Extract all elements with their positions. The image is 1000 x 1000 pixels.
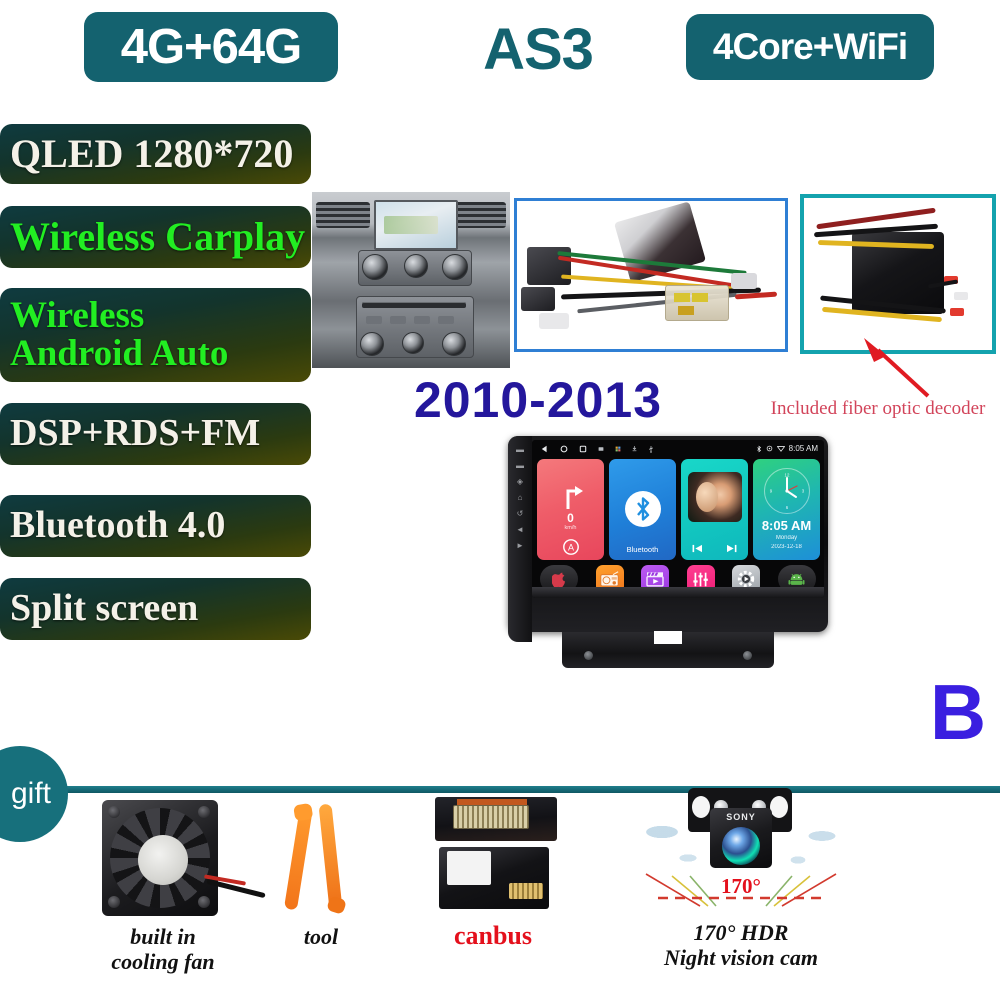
tile-bluetooth[interactable]: Bluetooth	[609, 459, 676, 560]
clock-digital-time: 8:05 AM	[753, 518, 820, 533]
backup-camera-image: SONY 170°	[626, 786, 856, 916]
tile-navigation[interactable]: 0 km/h A	[537, 459, 604, 560]
gift-caption-line1: built in	[58, 924, 268, 949]
bracket-hole-right	[743, 651, 752, 660]
home-button-icon[interactable]: ⌂	[515, 494, 525, 501]
badge-model: AS3	[448, 16, 628, 82]
fan-screw-br	[198, 896, 210, 908]
location-icon	[766, 445, 773, 452]
svg-text:12: 12	[784, 473, 789, 478]
audio-knob-right	[442, 332, 466, 356]
bracket-hole-left	[584, 651, 593, 660]
bracket-ear-left	[692, 796, 710, 818]
clock-hands-icon: 12 3 6 9	[765, 469, 809, 513]
audio-button-4	[438, 316, 454, 324]
feature-label: DSP+RDS+FM	[10, 414, 311, 454]
android-nav-buttons[interactable]	[541, 445, 654, 453]
fan-screw-bl	[108, 896, 120, 908]
audio-button-2	[390, 316, 406, 324]
side-button-vol-down[interactable]: ▬	[515, 462, 525, 469]
harness-plug	[521, 287, 555, 311]
gift-caption: tool	[246, 924, 396, 949]
model-year-range: 2010-2013	[378, 372, 698, 428]
cooling-fan-image	[98, 800, 228, 920]
camera-brand-label: SONY	[710, 812, 772, 822]
download-icon[interactable]	[632, 445, 637, 452]
audio-button-1	[366, 316, 382, 324]
canbus-box-bottom	[439, 847, 549, 909]
camera-body: SONY	[710, 808, 772, 868]
previous-track-icon[interactable]	[692, 544, 703, 553]
climate-knob-left	[362, 254, 388, 280]
feature-label: Split screen	[10, 589, 311, 629]
air-vent-right	[452, 202, 506, 228]
climate-knob-right	[442, 254, 468, 280]
feature-wireless-android-auto: Wireless Android Auto	[0, 288, 311, 382]
feature-dsp-rds-fm: DSP+RDS+FM	[0, 403, 311, 465]
cd-slot	[362, 302, 466, 308]
feature-bluetooth: Bluetooth 4.0	[0, 495, 311, 557]
side-button-next[interactable]: ►	[515, 542, 525, 549]
gift-caption-line1: 170° HDR	[596, 920, 886, 945]
rca-plug-white	[954, 292, 968, 300]
speed-value: 0	[537, 511, 604, 525]
canbus-gold-pins	[509, 883, 543, 899]
pry-tool-2	[318, 804, 342, 911]
speed-unit: km/h	[537, 525, 604, 531]
fan-screw-tl	[108, 806, 120, 818]
clock-date: 2023-12-18	[753, 544, 820, 550]
fan-screw-tr	[198, 806, 210, 818]
fiber-optic-decoder-photo	[800, 194, 996, 354]
side-button-prev[interactable]: ◄	[515, 526, 525, 533]
gift-item-cooling-fan: built in cooling fan	[58, 800, 268, 974]
status-tray: 8:05 AM	[756, 444, 818, 453]
gift-caption-line2: Night vision cam	[596, 945, 886, 970]
head-unit-screen[interactable]: 8:05 AM 0 km/h A	[532, 440, 824, 598]
back-icon[interactable]	[541, 445, 549, 453]
status-bar-time: 8:05 AM	[789, 444, 818, 453]
home-screen-tiles: 0 km/h A Bluetooth	[537, 459, 820, 560]
gift-caption: built in cooling fan	[58, 924, 268, 974]
gear-icon	[737, 570, 755, 588]
variant-letter: B	[928, 672, 988, 752]
bracket-notch	[654, 631, 682, 644]
gift-caption: canbus	[398, 921, 588, 951]
harness-white-plug	[731, 273, 757, 289]
feature-wireless-carplay: Wireless Carplay	[0, 206, 311, 268]
climate-knob-center	[404, 254, 428, 278]
audio-knob-left	[360, 332, 384, 356]
back-button-icon[interactable]: ↺	[515, 510, 525, 517]
svg-text:A: A	[567, 543, 573, 553]
tile-music[interactable]	[681, 459, 748, 560]
canbus-box-top	[435, 797, 557, 841]
original-dashboard-photo	[312, 192, 510, 368]
clock-weekday: Monday	[753, 535, 820, 541]
rca-plug-red2	[950, 308, 964, 316]
recents-icon[interactable]	[579, 445, 587, 453]
wifi-icon	[777, 445, 785, 452]
harness-white-connector	[539, 313, 569, 329]
product-ad-canvas: 4G+64G AS3 4Core+WiFi QLED 1280*720 Wire…	[0, 0, 1000, 1000]
svg-text:3: 3	[801, 489, 804, 494]
feature-label-line1: Wireless	[10, 297, 311, 335]
fan-hub-label	[138, 835, 188, 885]
bluetooth-badge	[625, 491, 661, 527]
tile-clock[interactable]: 12 3 6 9 8:05 AM Monday 2023-12-18	[753, 459, 820, 560]
apps-grid-icon[interactable]	[615, 446, 621, 452]
feature-label: Wireless Carplay	[10, 216, 311, 258]
gift-caption: 170° HDR Night vision cam	[596, 920, 886, 970]
feature-label: Bluetooth 4.0	[10, 506, 311, 546]
gift-caption-line1: canbus	[398, 921, 588, 951]
auto-mode-icon[interactable]: A	[562, 538, 580, 556]
gift-item-camera: SONY 170° 170° HDR Night vision cam	[596, 786, 886, 970]
usb-icon[interactable]	[648, 445, 654, 453]
gift-item-tool: tool	[246, 800, 396, 949]
tile-label: Bluetooth	[609, 545, 676, 554]
android-status-bar: 8:05 AM	[532, 440, 824, 457]
feature-label-line2: Android Auto	[10, 335, 311, 373]
decoder-caption: Included fiber optic decoder	[756, 396, 1000, 422]
camera-angle-label: 170°	[721, 874, 761, 899]
home-icon[interactable]	[560, 445, 568, 453]
camera-lens	[722, 827, 760, 865]
badge-cpu: 4Core+WiFi	[686, 14, 934, 80]
equalizer-icon	[692, 571, 709, 588]
head-unit-device: ▬ ▬ ◈ ⌂ ↺ ◄ ►	[500, 432, 840, 672]
next-track-icon[interactable]	[726, 544, 737, 553]
radio-icon	[600, 571, 619, 587]
pry-tool-1	[284, 806, 313, 911]
wiring-harness-photo	[514, 198, 788, 352]
fuse-box	[665, 285, 729, 321]
bluetooth-icon	[633, 496, 653, 522]
factory-screen	[374, 200, 458, 250]
analog-clock-face: 12 3 6 9	[764, 468, 810, 514]
gift-caption-line1: tool	[246, 924, 396, 949]
badge-memory: 4G+64G	[84, 12, 338, 82]
bracket-ear-right	[770, 796, 788, 818]
mounting-bracket	[562, 632, 774, 668]
video-clapper-icon	[646, 571, 664, 587]
trim-tool-image	[266, 800, 376, 920]
audio-button-3	[414, 316, 430, 324]
screenshot-icon[interactable]	[598, 446, 604, 452]
audio-knob-center	[402, 332, 424, 354]
air-vent-left	[316, 202, 370, 228]
svg-text:6: 6	[785, 505, 788, 510]
decoder-arrow-icon	[860, 336, 936, 402]
music-controls[interactable]	[681, 544, 748, 553]
navigation-arrow-icon	[557, 481, 585, 511]
canbus-connector-pins	[453, 805, 529, 829]
album-art	[688, 472, 742, 522]
apple-icon	[552, 571, 567, 588]
canbus-image	[413, 795, 573, 917]
dock-bar	[532, 587, 824, 598]
bluetooth-icon	[756, 445, 762, 453]
svg-text:9: 9	[769, 489, 772, 494]
side-button-vol-up[interactable]: ▬	[515, 446, 525, 453]
gift-item-canbus: canbus	[398, 795, 588, 951]
feature-label: QLED 1280*720	[10, 133, 311, 175]
gift-caption-line2: cooling fan	[58, 949, 268, 974]
android-icon	[788, 572, 805, 587]
feature-split-screen: Split screen	[0, 578, 311, 640]
side-button-power[interactable]: ◈	[515, 478, 525, 485]
feature-qled: QLED 1280*720	[0, 124, 311, 184]
canbus-label-sticker	[447, 851, 491, 885]
head-unit-side-buttons[interactable]: ▬ ▬ ◈ ⌂ ↺ ◄ ►	[508, 436, 532, 642]
